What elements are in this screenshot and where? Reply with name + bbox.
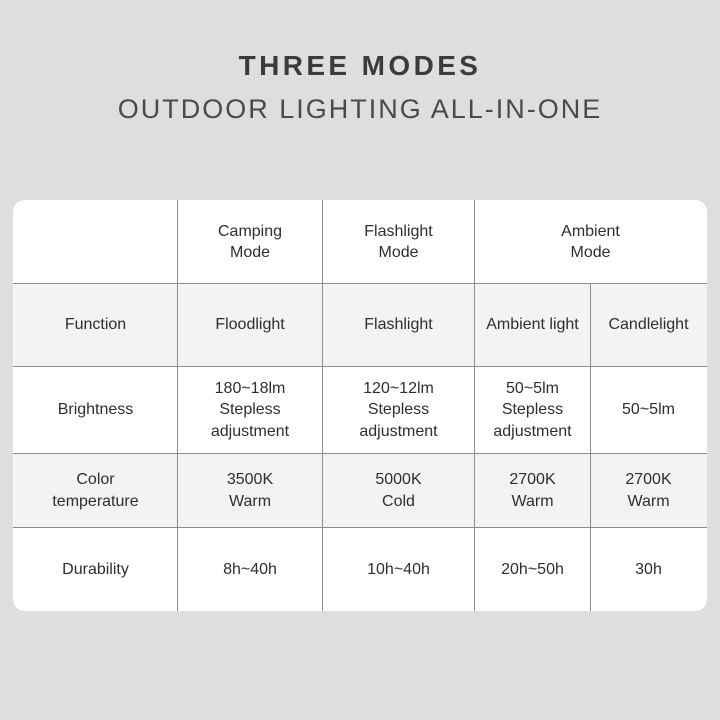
cell-brightness-flashlight-line3: adjustment — [328, 421, 469, 442]
cell-durability-candlelight: 30h — [591, 528, 707, 612]
cell-brightness-ambient-light-line2: Stepless — [480, 399, 585, 420]
header-camping-mode-line2: Mode — [183, 242, 317, 263]
cell-colortemp-ambient-light-line2: Warm — [480, 491, 585, 512]
header-camping-mode: Camping Mode — [178, 201, 323, 284]
cell-brightness-camping: 180~18lm Stepless adjustment — [178, 367, 323, 454]
cell-colortemp-flashlight-line2: Cold — [328, 491, 469, 512]
specification-table: Camping Mode Flashlight Mode Ambient Mod… — [13, 200, 707, 611]
spec-sheet-page: THREE MODES OUTDOOR LIGHTING ALL-IN-ONE … — [0, 0, 720, 720]
cell-brightness-candlelight: 50~5lm — [591, 367, 707, 454]
cell-brightness-camping-line1: 180~18lm — [183, 378, 317, 399]
cell-brightness-ambient-light-line1: 50~5lm — [480, 378, 585, 399]
cell-durability-ambient-light: 20h~50h — [475, 528, 591, 612]
header-flashlight-mode-line2: Mode — [328, 242, 469, 263]
table-row-function: Function Floodlight Flashlight Ambient l… — [14, 284, 707, 367]
cell-function-flashlight: Flashlight — [323, 284, 475, 367]
specification-table-container: Camping Mode Flashlight Mode Ambient Mod… — [13, 200, 707, 611]
table-header-row: Camping Mode Flashlight Mode Ambient Mod… — [14, 201, 707, 284]
row-label-color-temperature-line1: Color — [19, 469, 172, 490]
header-camping-mode-line1: Camping — [183, 221, 317, 242]
cell-colortemp-ambient-light: 2700K Warm — [475, 454, 591, 528]
cell-brightness-ambient-light-line3: adjustment — [480, 421, 585, 442]
header-flashlight-mode-line1: Flashlight — [328, 221, 469, 242]
row-label-color-temperature: Color temperature — [14, 454, 178, 528]
cell-colortemp-ambient-light-line1: 2700K — [480, 469, 585, 490]
cell-function-ambient-light: Ambient light — [475, 284, 591, 367]
cell-brightness-flashlight-line1: 120~12lm — [328, 378, 469, 399]
header-corner-cell — [14, 201, 178, 284]
heading-block: THREE MODES OUTDOOR LIGHTING ALL-IN-ONE — [0, 52, 720, 123]
page-title: THREE MODES — [0, 52, 720, 80]
header-flashlight-mode: Flashlight Mode — [323, 201, 475, 284]
table-row-durability: Durability 8h~40h 10h~40h 20h~50h 30h — [14, 528, 707, 612]
row-label-function: Function — [14, 284, 178, 367]
cell-colortemp-camping: 3500K Warm — [178, 454, 323, 528]
cell-durability-flashlight: 10h~40h — [323, 528, 475, 612]
cell-brightness-camping-line3: adjustment — [183, 421, 317, 442]
cell-brightness-camping-line2: Stepless — [183, 399, 317, 420]
header-ambient-mode-line1: Ambient — [480, 221, 701, 242]
page-subtitle: OUTDOOR LIGHTING ALL-IN-ONE — [0, 96, 720, 123]
cell-brightness-ambient-light: 50~5lm Stepless adjustment — [475, 367, 591, 454]
header-ambient-mode-line2: Mode — [480, 242, 701, 263]
cell-brightness-flashlight-line2: Stepless — [328, 399, 469, 420]
table-row-brightness: Brightness 180~18lm Stepless adjustment … — [14, 367, 707, 454]
cell-colortemp-camping-line2: Warm — [183, 491, 317, 512]
table-row-color-temperature: Color temperature 3500K Warm 5000K Cold … — [14, 454, 707, 528]
cell-colortemp-candlelight: 2700K Warm — [591, 454, 707, 528]
cell-durability-camping: 8h~40h — [178, 528, 323, 612]
row-label-color-temperature-line2: temperature — [19, 491, 172, 512]
cell-brightness-flashlight: 120~12lm Stepless adjustment — [323, 367, 475, 454]
cell-colortemp-camping-line1: 3500K — [183, 469, 317, 490]
cell-colortemp-candlelight-line1: 2700K — [596, 469, 701, 490]
header-ambient-mode: Ambient Mode — [475, 201, 707, 284]
cell-colortemp-flashlight-line1: 5000K — [328, 469, 469, 490]
row-label-durability: Durability — [14, 528, 178, 612]
row-label-brightness: Brightness — [14, 367, 178, 454]
cell-colortemp-candlelight-line2: Warm — [596, 491, 701, 512]
cell-colortemp-flashlight: 5000K Cold — [323, 454, 475, 528]
cell-function-candlelight: Candlelight — [591, 284, 707, 367]
cell-function-camping: Floodlight — [178, 284, 323, 367]
